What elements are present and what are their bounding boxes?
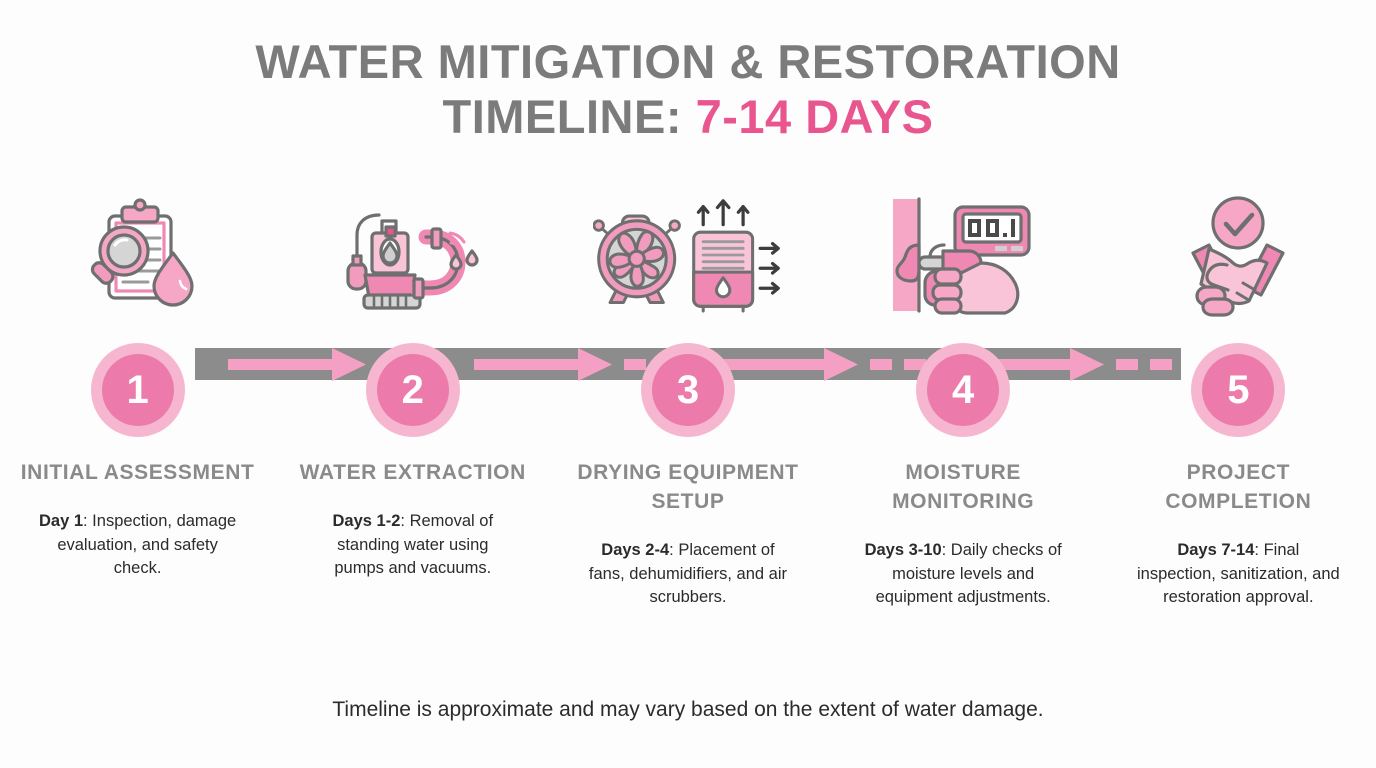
step-days-5: Days 7-14 [1177, 541, 1254, 559]
step-circle-4[interactable]: 4 [916, 343, 1010, 437]
timeline-steps: 1 INITIAL ASSESSMENT Day 1: Inspection, … [0, 180, 1376, 610]
timeline-step-4[interactable]: 4 MOISTURE MONITORING Days 3-10: Daily c… [826, 180, 1101, 610]
timeline: 1 INITIAL ASSESSMENT Day 1: Inspection, … [0, 180, 1376, 650]
step-description-4: Days 3-10: Daily checks of moisture leve… [861, 539, 1066, 610]
handshake-check-icon [1143, 180, 1333, 330]
timeline-step-5[interactable]: 5 PROJECT COMPLETION Days 7-14: Final in… [1101, 180, 1376, 610]
title-line-1: WATER MITIGATION & RESTORATION [0, 34, 1376, 89]
step-number-1: 1 [102, 354, 174, 426]
step-number-5: 5 [1202, 354, 1274, 426]
step-circle-2[interactable]: 2 [366, 343, 460, 437]
timeline-step-3[interactable]: 3 DRYING EQUIPMENT SETUP Days 2-4: Place… [550, 180, 825, 610]
step-number-4: 4 [927, 354, 999, 426]
step-title-4: MOISTURE MONITORING [838, 459, 1088, 517]
step-days-4: Days 3-10 [865, 541, 942, 559]
step-number-2: 2 [377, 354, 449, 426]
step-title-5: PROJECT COMPLETION [1113, 459, 1363, 517]
title-duration-accent: 7-14 DAYS [696, 90, 934, 143]
title-line-2: TIMELINE: 7-14 DAYS [0, 89, 1376, 144]
step-title-2: WATER EXTRACTION [300, 459, 526, 488]
timeline-step-1[interactable]: 1 INITIAL ASSESSMENT Day 1: Inspection, … [0, 180, 275, 610]
step-title-3: DRYING EQUIPMENT SETUP [563, 459, 813, 517]
page-title: WATER MITIGATION & RESTORATION TIMELINE:… [0, 34, 1376, 145]
step-number-3: 3 [652, 354, 724, 426]
step-desc-text-1: : Inspection, damage evaluation, and saf… [57, 512, 236, 578]
step-circle-3[interactable]: 3 [641, 343, 735, 437]
step-description-5: Days 7-14: Final inspection, sanitizatio… [1136, 539, 1341, 610]
clipboard-magnifier-droplet-icon [43, 180, 233, 330]
step-circle-5[interactable]: 5 [1191, 343, 1285, 437]
air-mover-dehumidifier-icon [593, 180, 783, 330]
step-days-3: Days 2-4 [601, 541, 669, 559]
submersible-pump-hose-icon [318, 180, 508, 330]
step-days-2: Days 1-2 [333, 512, 401, 530]
footer-note: Timeline is approximate and may vary bas… [0, 698, 1376, 722]
step-days-1: Day 1 [39, 512, 83, 530]
moisture-meter-hand-icon [868, 180, 1058, 330]
step-description-2: Days 1-2: Removal of standing water usin… [310, 510, 515, 581]
step-circle-1[interactable]: 1 [91, 343, 185, 437]
step-title-1: INITIAL ASSESSMENT [21, 459, 255, 488]
timeline-step-2[interactable]: 2 WATER EXTRACTION Days 1-2: Removal of … [275, 180, 550, 610]
step-description-1: Day 1: Inspection, damage evaluation, an… [35, 510, 240, 581]
title-line-2-prefix: TIMELINE: [443, 90, 696, 143]
step-description-3: Days 2-4: Placement of fans, dehumidifie… [585, 539, 790, 610]
